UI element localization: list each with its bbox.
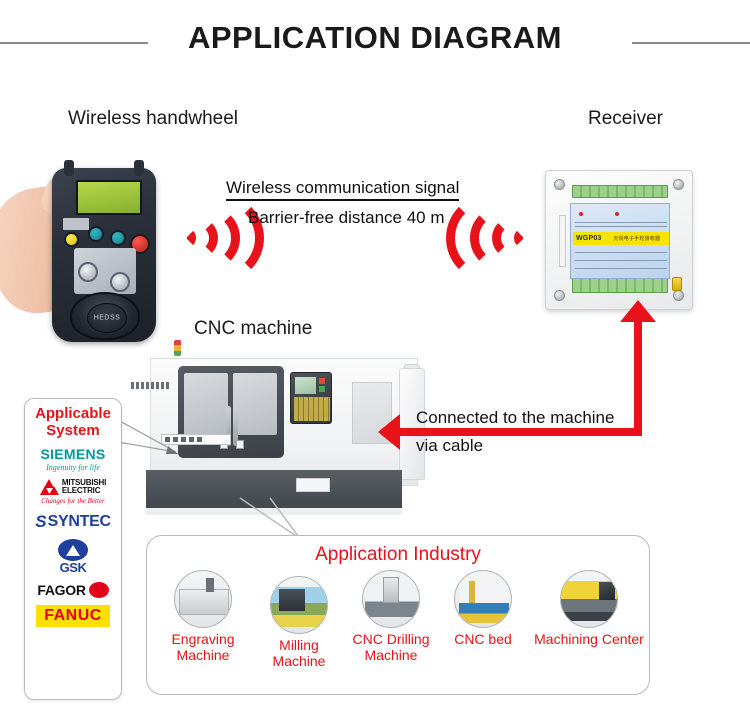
handwheel-brand-plate xyxy=(63,218,89,230)
cnc-base-label xyxy=(296,478,330,492)
receiver-led-2 xyxy=(615,212,619,216)
industry-label-line1: CNC bed xyxy=(454,631,512,647)
receiver-trace-2 xyxy=(575,226,667,227)
industry-item-cnc-drilling: CNC Drilling Machine xyxy=(345,570,437,663)
industry-item-engraving: Engraving Machine xyxy=(157,570,249,663)
mitsubishi-wordmark-2: ELECTRIC xyxy=(62,487,106,495)
applicable-system-title-line1: Applicable xyxy=(35,405,111,422)
siemens-slogan: Ingenuity for life xyxy=(46,463,100,472)
industry-label-line1: Engraving xyxy=(171,631,234,647)
receiver-screw-bottom-left xyxy=(554,290,565,301)
receiver-side-sticker xyxy=(559,215,566,267)
cnc-control-panel xyxy=(290,372,332,424)
cnc-door-knob-right xyxy=(236,440,244,449)
mitsubishi-diamond-icon xyxy=(40,479,59,495)
industry-label-milling: Milling Machine xyxy=(253,637,345,669)
applicable-system-title: Applicable System xyxy=(35,405,111,439)
applicable-system-title-line2: System xyxy=(46,422,99,439)
application-industry-title: Application Industry xyxy=(147,544,649,566)
caption-receiver: Receiver xyxy=(588,108,663,130)
cable-line-horizontal xyxy=(398,428,642,436)
wireless-signal-left xyxy=(176,190,238,286)
cnc-panel-button-green xyxy=(319,386,325,392)
industry-item-milling: Milling Machine xyxy=(253,576,345,669)
industry-thumb-cnc-bed xyxy=(454,570,512,628)
cnc-machine-nameplate xyxy=(131,382,169,389)
cnc-door-window-left xyxy=(184,373,228,435)
receiver-label-cn: 无线电子手轮接收器 xyxy=(602,235,669,242)
industry-thumb-machining-center xyxy=(560,570,618,628)
industry-thumb-engraving xyxy=(174,570,232,628)
applicable-system-pointer xyxy=(118,418,180,456)
receiver-model-label: WGP03 无线电子手轮接收器 xyxy=(573,232,669,245)
cnc-signal-tower-light xyxy=(174,340,181,356)
brand-syntec: S SYNTEC xyxy=(30,512,116,532)
cable-line-vertical xyxy=(634,316,642,436)
handwheel-ear-left xyxy=(64,160,74,176)
fagor-mark-icon xyxy=(89,582,109,598)
brand-siemens: SIEMENS Ingenuity for life xyxy=(30,446,116,472)
brand-fagor: FAGOR xyxy=(30,582,116,598)
fanuc-logo-block: FANUC xyxy=(36,605,110,627)
handwheel-lcd-screen xyxy=(76,180,142,215)
applicable-system-box: Applicable System SIEMENS Ingenuity for … xyxy=(24,398,122,700)
brand-gsk: GSK xyxy=(30,539,116,575)
receiver-trace-3 xyxy=(575,252,667,253)
industry-label-machining-center: Machining Center xyxy=(529,631,649,647)
receiver-screw-top-left xyxy=(554,179,565,190)
caption-wireless-handwheel: Wireless handwheel xyxy=(68,108,238,130)
cable-label-line2: via cable xyxy=(416,436,483,456)
application-industry-pointer xyxy=(236,496,306,538)
industry-label-line2: Machine xyxy=(177,647,230,663)
brand-mitsubishi-electric: MITSUBISHI ELECTRIC Changes for the Bett… xyxy=(30,479,116,505)
receiver-device: WGP03 无线电子手轮接收器 xyxy=(545,170,693,310)
handwheel-dial-inner: HEDSS xyxy=(87,303,127,333)
receiver-trace-5 xyxy=(575,268,667,269)
handwheel-rate-selector xyxy=(110,272,130,292)
industry-label-line1: Milling xyxy=(279,637,319,653)
page-title: APPLICATION DIAGRAM xyxy=(0,20,750,56)
industry-label-engraving: Engraving Machine xyxy=(157,631,249,663)
industry-label-line2: Machine xyxy=(273,653,326,669)
application-industry-list: Engraving Machine Milling Machine CNC Dr… xyxy=(147,570,649,690)
industry-label-line2: Machine xyxy=(365,647,418,663)
receiver-trace-4 xyxy=(575,260,667,261)
wireless-distance-label: Barrier-free distance 40 m xyxy=(248,208,445,228)
application-industry-box: Application Industry Engraving Machine M… xyxy=(146,535,650,695)
industry-label-cnc-bed: CNC bed xyxy=(437,631,529,647)
receiver-led-1 xyxy=(579,212,583,216)
cnc-panel-button-red xyxy=(319,378,325,384)
wireless-signal-right xyxy=(472,190,534,286)
gsk-emblem-icon xyxy=(58,539,88,561)
handwheel-button-yellow xyxy=(64,232,79,247)
receiver-trace-1 xyxy=(575,222,667,223)
cnc-door-window-right xyxy=(233,373,277,435)
caption-cnc-machine: CNC machine xyxy=(194,318,312,340)
syntec-wordmark: SYNTEC xyxy=(48,513,111,531)
mitsubishi-slogan: Changes for the Better xyxy=(41,497,105,505)
fanuc-wordmark: FANUC xyxy=(44,607,102,624)
handwheel-button-teal-1 xyxy=(88,226,104,242)
handwheel-dial-text: HEDSS xyxy=(94,315,121,322)
industry-label-line1: CNC Drilling xyxy=(352,631,429,647)
industry-item-cnc-bed: CNC bed xyxy=(437,570,529,647)
wireless-signal-label: Wireless communication signal xyxy=(226,178,459,201)
receiver-screw-top-right xyxy=(673,179,684,190)
industry-label-cnc-drilling: CNC Drilling Machine xyxy=(345,631,437,663)
cnc-panel-screen xyxy=(295,377,316,394)
receiver-screw-bottom-right xyxy=(673,290,684,301)
application-diagram: APPLICATION DIAGRAM Wireless handwheel R… xyxy=(0,0,750,717)
brand-fanuc: FANUC xyxy=(30,605,116,627)
industry-item-machining-center: Machining Center xyxy=(529,570,649,647)
fagor-wordmark: FAGOR xyxy=(37,582,85,598)
industry-thumb-cnc-drilling xyxy=(362,570,420,628)
industry-label-line1: Machining Center xyxy=(534,631,644,647)
cable-label-line1: Connected to the machine xyxy=(416,408,614,428)
handwheel-pulse-dial: HEDSS xyxy=(70,292,140,340)
signal-arc-4 xyxy=(446,194,534,282)
cnc-panel-keypad xyxy=(294,397,330,421)
handwheel-button-teal-2 xyxy=(110,230,126,246)
receiver-circuit-board: WGP03 无线电子手轮接收器 xyxy=(570,203,670,279)
receiver-terminal-block-top xyxy=(572,185,668,198)
syntec-mark-icon: S xyxy=(35,512,46,532)
receiver-model-text: WGP03 xyxy=(573,235,602,242)
handwheel-ear-right xyxy=(134,160,144,176)
handwheel-axis-selector xyxy=(78,262,98,282)
siemens-wordmark: SIEMENS xyxy=(40,446,105,462)
wireless-handwheel-device: HEDSS xyxy=(52,168,156,342)
cable-arrow-left-icon xyxy=(378,414,400,450)
receiver-connector xyxy=(672,277,682,291)
industry-thumb-milling xyxy=(270,576,328,634)
gsk-wordmark: GSK xyxy=(60,560,87,575)
